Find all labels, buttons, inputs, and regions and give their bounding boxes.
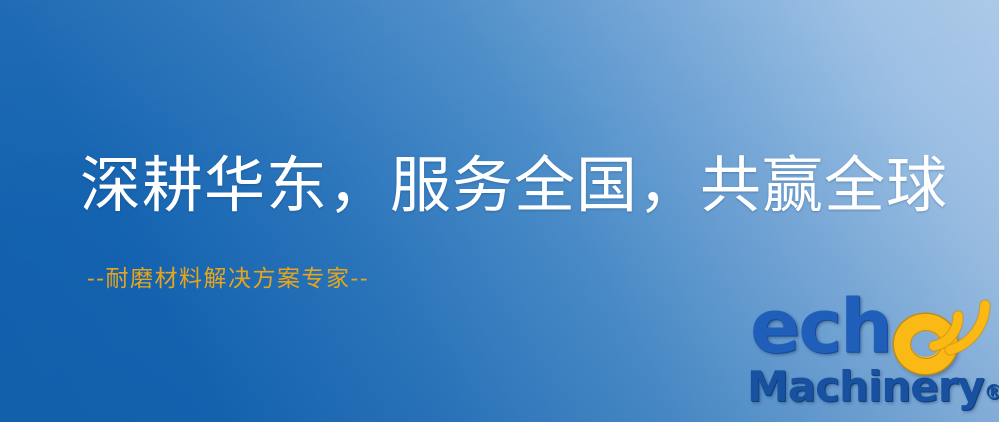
logo-wordmark-ech: ech: [750, 290, 891, 364]
logo-subwordmark: Machinery®: [747, 366, 999, 408]
echo-machinery-logo[interactable]: ech: [745, 296, 999, 422]
hero-banner: 深耕华东，服务全国，共赢全球 --耐磨材料解决方案专家-- ech: [0, 0, 999, 422]
banner-headline: 深耕华东，服务全国，共赢全球: [80, 155, 948, 216]
banner-subtitle: --耐磨材料解决方案专家--: [87, 268, 369, 291]
logo-wordmark-row: ech: [745, 296, 999, 372]
logo-subwordmark-text: Machinery: [747, 362, 984, 411]
registered-trademark-icon: ®: [984, 380, 999, 404]
logo-signal-arcs-icon: [928, 294, 999, 358]
